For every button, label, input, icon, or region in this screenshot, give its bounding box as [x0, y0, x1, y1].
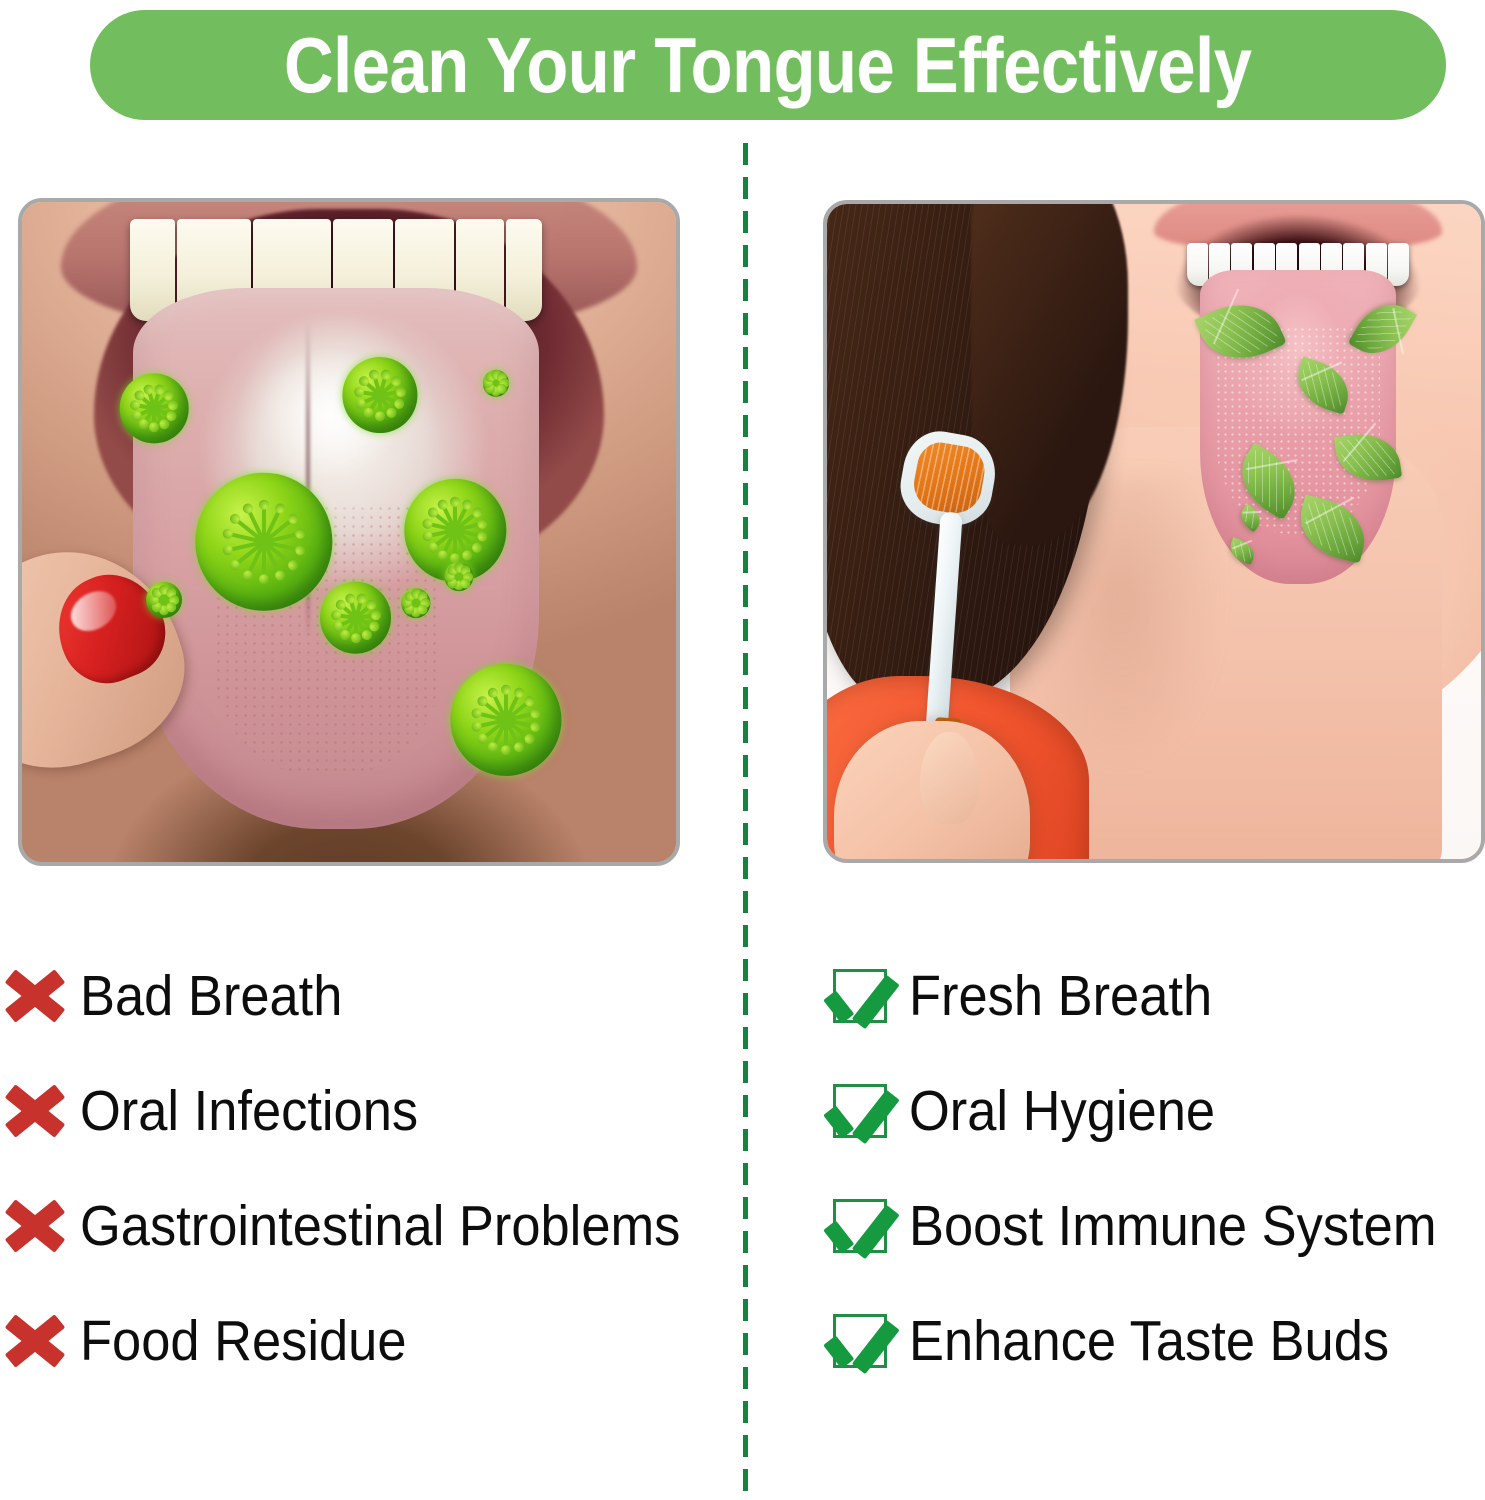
list-item: Oral Hygiene	[833, 1053, 1483, 1168]
bacteria-germ	[401, 588, 430, 618]
red-x-icon	[8, 1200, 62, 1252]
photo-clean-tongue	[823, 200, 1485, 863]
list-item-label: Gastrointestinal Problems	[80, 1196, 680, 1256]
bacteria-germ	[444, 562, 473, 592]
bacteria-germ	[120, 374, 189, 443]
list-item: Boost Immune System	[833, 1168, 1483, 1283]
red-x-icon	[8, 1085, 62, 1137]
bacteria-germ	[195, 473, 332, 612]
page-title: Clean Your Tongue Effectively	[284, 26, 1251, 104]
list-item-label: Oral Hygiene	[909, 1081, 1215, 1141]
list-item: Enhance Taste Buds	[833, 1283, 1483, 1398]
infographic-root: Clean Your Tongue Effectively	[0, 0, 1485, 1500]
bacteria-germ	[450, 664, 561, 776]
vertical-dashed-divider	[743, 143, 748, 1500]
list-item-label: Boost Immune System	[909, 1196, 1437, 1256]
photo-problem-tongue	[18, 198, 680, 866]
bacteria-germ	[146, 582, 182, 618]
list-item: Fresh Breath	[833, 938, 1483, 1053]
header-banner: Clean Your Tongue Effectively	[90, 10, 1446, 120]
green-check-icon	[833, 1084, 887, 1138]
list-item: Oral Infections	[8, 1053, 728, 1168]
bacteria-germ	[483, 370, 509, 396]
green-check-icon	[833, 1199, 887, 1253]
red-x-icon	[8, 1315, 62, 1367]
bacteria-germ	[342, 357, 417, 433]
red-x-icon	[8, 970, 62, 1022]
bacteria-germ	[320, 582, 392, 655]
photo-clean-tongue-content	[827, 204, 1481, 859]
positive-list: Fresh Breath Oral Hygiene Boost Immune S…	[833, 938, 1483, 1398]
list-item: Bad Breath	[8, 938, 728, 1053]
photo-problem-tongue-content	[22, 202, 676, 862]
green-check-icon	[833, 969, 887, 1023]
list-item-label: Bad Breath	[80, 966, 342, 1026]
list-item-label: Enhance Taste Buds	[909, 1311, 1389, 1371]
green-check-icon	[833, 1314, 887, 1368]
list-item-label: Food Residue	[80, 1311, 406, 1371]
list-item-label: Oral Infections	[80, 1081, 418, 1141]
list-item-label: Fresh Breath	[909, 966, 1212, 1026]
list-item: Gastrointestinal Problems	[8, 1168, 728, 1283]
list-item: Food Residue	[8, 1283, 728, 1398]
negative-list: Bad Breath Oral Infections Gastrointesti…	[8, 938, 728, 1398]
